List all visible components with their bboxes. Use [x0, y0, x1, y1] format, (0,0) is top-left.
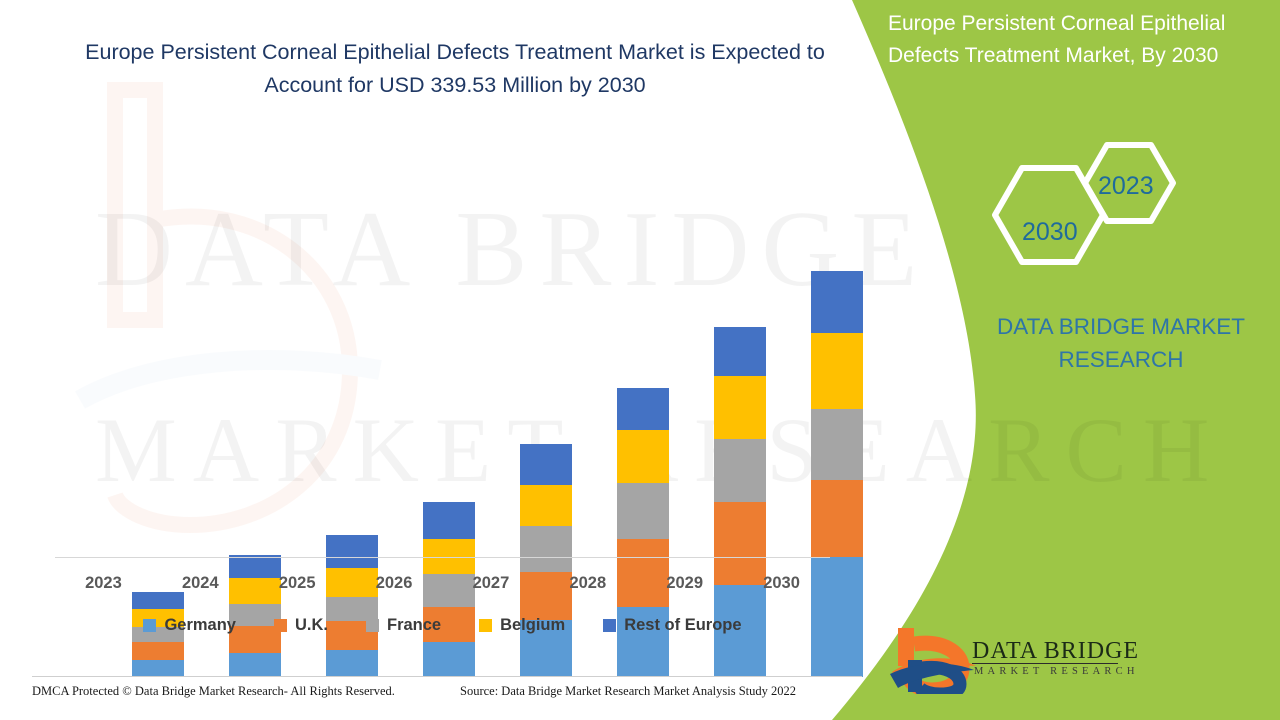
- logo-tagline: MARKET RESEARCH: [974, 666, 1139, 677]
- legend-item[interactable]: U.K.: [274, 616, 328, 635]
- bar-segment[interactable]: [229, 653, 281, 677]
- x-axis-label-2025: 2025: [249, 574, 346, 593]
- source-note: Source: Data Bridge Market Research Mark…: [460, 684, 796, 699]
- x-axis-label-2029: 2029: [636, 574, 733, 593]
- bar-slot-2029: [691, 240, 788, 677]
- x-axis-line: [55, 557, 830, 558]
- bar-group: [110, 240, 885, 677]
- bar-segment[interactable]: [132, 642, 184, 659]
- bar-segment[interactable]: [617, 388, 669, 431]
- legend-label: France: [387, 616, 441, 635]
- bar-slot-2026: [401, 240, 498, 677]
- legend-item[interactable]: France: [366, 616, 441, 635]
- bar-slot-2027: [498, 240, 595, 677]
- x-axis-label-2027: 2027: [443, 574, 540, 593]
- bar-segment[interactable]: [714, 376, 766, 439]
- legend-label: Belgium: [500, 616, 565, 635]
- bar-segment[interactable]: [811, 333, 863, 409]
- legend-label: U.K.: [295, 616, 328, 635]
- bar-segment[interactable]: [811, 271, 863, 333]
- bar-slot-2025: [304, 240, 401, 677]
- bar-segment[interactable]: [132, 592, 184, 609]
- logo-wordmark: DATA BRIDGE: [972, 638, 1139, 665]
- bar-segment[interactable]: [423, 502, 475, 539]
- bar-slot-2023: [110, 240, 207, 677]
- x-axis-label-2024: 2024: [152, 574, 249, 593]
- legend-item[interactable]: Belgium: [479, 616, 565, 635]
- x-axis-label-2030: 2030: [733, 574, 830, 593]
- bar-segment[interactable]: [326, 535, 378, 568]
- footer-divider: [32, 676, 862, 677]
- bar-segment[interactable]: [132, 660, 184, 677]
- hexagon-pair: [965, 135, 1215, 295]
- legend-swatch-icon: [274, 619, 287, 632]
- legend-item[interactable]: Germany: [143, 616, 236, 635]
- hexagon-2030-label: 2030: [1022, 218, 1078, 247]
- legend-label: Rest of Europe: [624, 616, 741, 635]
- legend-swatch-icon: [603, 619, 616, 632]
- chart-legend: GermanyU.K.FranceBelgiumRest of Europe: [55, 616, 830, 635]
- legend-label: Germany: [164, 616, 236, 635]
- x-axis-label-2028: 2028: [539, 574, 636, 593]
- bar-slot-2024: [207, 240, 304, 677]
- x-axis-label-2026: 2026: [346, 574, 443, 593]
- infographic-canvas: DATA BRIDGE MARKET RESEARCH Europe Persi…: [0, 0, 1280, 720]
- stacked-bar[interactable]: [520, 444, 572, 677]
- panel-title: Europe Persistent Corneal Epithelial Def…: [888, 8, 1280, 72]
- legend-swatch-icon: [143, 619, 156, 632]
- bar-segment[interactable]: [714, 502, 766, 585]
- bar-chart: [55, 120, 830, 560]
- dmca-notice: DMCA Protected © Data Bridge Market Rese…: [32, 684, 395, 699]
- bar-segment[interactable]: [811, 409, 863, 480]
- legend-swatch-icon: [479, 619, 492, 632]
- x-axis-labels: 20232024202520262027202820292030: [55, 574, 830, 593]
- bar-segment[interactable]: [520, 485, 572, 527]
- x-axis-label-2023: 2023: [55, 574, 152, 593]
- bar-segment[interactable]: [326, 650, 378, 677]
- bar-segment[interactable]: [714, 327, 766, 375]
- bar-segment[interactable]: [520, 526, 572, 572]
- brand-name: DATA BRIDGE MARKET RESEARCH: [962, 310, 1280, 376]
- legend-item[interactable]: Rest of Europe: [603, 616, 741, 635]
- bar-slot-2028: [594, 240, 691, 677]
- bar-segment[interactable]: [617, 430, 669, 482]
- bar-segment[interactable]: [423, 642, 475, 677]
- bar-segment[interactable]: [811, 480, 863, 556]
- bar-segment[interactable]: [520, 444, 572, 484]
- bar-segment[interactable]: [617, 483, 669, 540]
- hexagon-2023-label: 2023: [1098, 172, 1154, 201]
- bar-segment[interactable]: [714, 439, 766, 502]
- bar-slot-2030: [788, 240, 885, 677]
- legend-swatch-icon: [366, 619, 379, 632]
- chart-title: Europe Persistent Corneal Epithelial Def…: [60, 36, 850, 102]
- logo-underline: [972, 663, 1118, 664]
